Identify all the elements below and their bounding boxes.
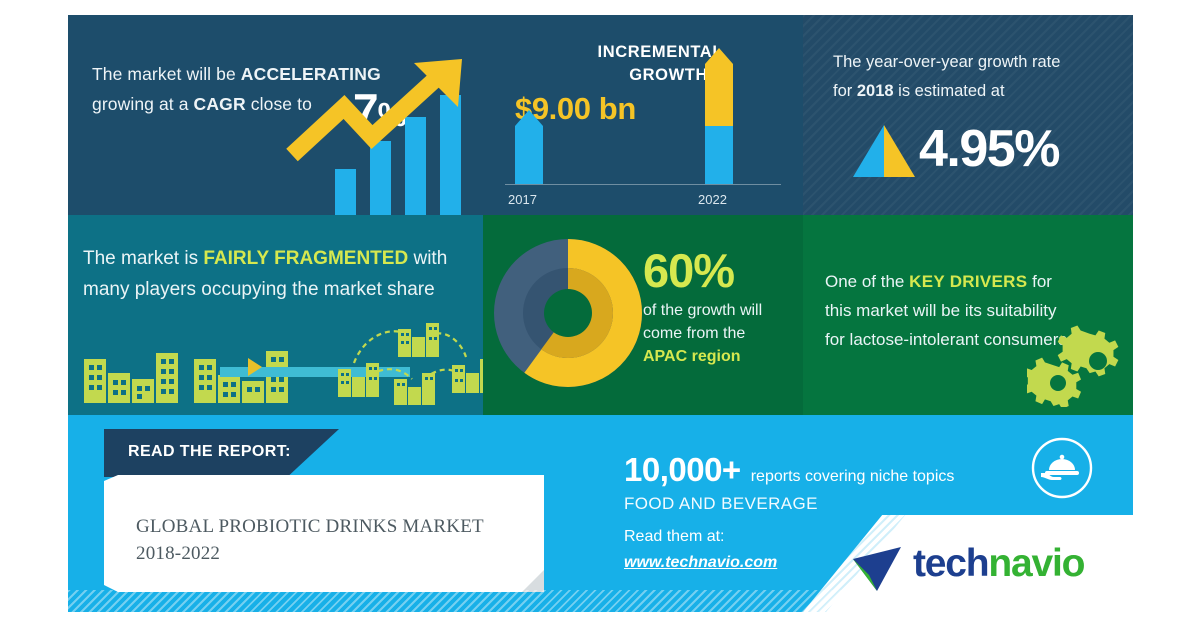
incremental-axis-line [505, 184, 781, 185]
fragmentation-statement: The market is FAIRLY FRAGMENTED with man… [83, 243, 483, 305]
frag-line1-suffix: with [408, 248, 447, 269]
technavio-url-link[interactable]: www.technavio.com [624, 554, 777, 572]
dog-ear-corner [522, 570, 544, 592]
apac-highlight: APAC region [643, 348, 740, 365]
yoy-line2-bold: 2018 [857, 82, 894, 100]
connector-arrow-icon [248, 358, 262, 376]
footer-hatch-band [68, 590, 1133, 612]
fragmented-clusters-icon [336, 313, 483, 409]
frag-line2: many players occupying the market share [83, 279, 435, 300]
incremental-start-year: 2017 [508, 192, 537, 207]
report-category: FOOD AND BEVERAGE [624, 494, 954, 514]
apac-subtext: of the growth will come from the APAC re… [643, 299, 803, 368]
yoy-value: 4.95% [919, 119, 1059, 179]
apac-statement: 60% of the growth will come from the APA… [643, 245, 803, 368]
panel-incremental-growth: INCREMENTAL GROWTH $9.00 bn 2017 2022 [483, 15, 803, 215]
yoy-line2-prefix: for [833, 82, 857, 100]
panel-key-drivers: One of the KEY DRIVERS for this market w… [803, 215, 1133, 415]
mid-stats-row: The market is FAIRLY FRAGMENTED with man… [68, 215, 1133, 415]
yoy-line2-suffix: is estimated at [894, 82, 1005, 100]
technavio-wordmark: technavio [913, 542, 1084, 586]
drv-line1-prefix: One of the [825, 272, 909, 291]
report-title-card[interactable]: GLOBAL PROBIOTIC DRINKS MARKET 2018-2022 [104, 475, 544, 592]
yoy-line1: The year-over-year growth rate [833, 53, 1060, 71]
read-the-report-tab: READ THE REPORT: [104, 429, 339, 477]
cagr-line2-prefix: growing at a [92, 94, 194, 114]
brand-part-tech: tech [913, 542, 988, 585]
apac-line2: come from the [643, 325, 745, 342]
drv-line2: this market will be its suitability [825, 301, 1056, 320]
panel-yoy-growth: The year-over-year growth rate for 2018 … [803, 15, 1133, 215]
footer-bar: READ THE REPORT: GLOBAL PROBIOTIC DRINKS… [68, 415, 1133, 612]
yoy-statement: The year-over-year growth rate for 2018 … [833, 48, 1113, 106]
incremental-title-line2: GROWTH [629, 66, 708, 84]
brand-part-navio: navio [988, 542, 1084, 585]
apac-line1: of the growth will [643, 302, 762, 319]
apac-percent: 60% [643, 245, 803, 297]
drv-line1-suffix: for [1027, 272, 1052, 291]
gears-icon [1027, 321, 1127, 407]
cagr-line2-bold: CAGR [194, 94, 246, 114]
panel-apac-share: 60% of the growth will come from the APA… [483, 215, 803, 415]
drv-line1-bold: KEY DRIVERS [909, 272, 1027, 291]
cagr-line1-prefix: The market will be [92, 64, 241, 84]
technavio-paper-plane-icon [851, 545, 905, 593]
panel-fragmentation: The market is FAIRLY FRAGMENTED with man… [68, 215, 483, 415]
top-stats-row: The market will be ACCELERATING growing … [68, 15, 1133, 215]
report-title: GLOBAL PROBIOTIC DRINKS MARKET 2018-2022 [136, 513, 516, 567]
frag-line1-bold: FAIRLY FRAGMENTED [203, 248, 408, 269]
incremental-end-year: 2022 [698, 192, 727, 207]
food-cloche-icon [1031, 437, 1093, 499]
infographic-root: The market will be ACCELERATING growing … [68, 15, 1133, 612]
report-count-label: reports covering niche topics [751, 468, 955, 486]
growth-arrow-icon [286, 59, 483, 199]
read-the-report-label: READ THE REPORT: [128, 443, 291, 461]
frag-line1-prefix: The market is [83, 248, 203, 269]
panel-cagr: The market will be ACCELERATING growing … [68, 15, 483, 215]
report-count-number: 10,000+ [624, 451, 741, 489]
